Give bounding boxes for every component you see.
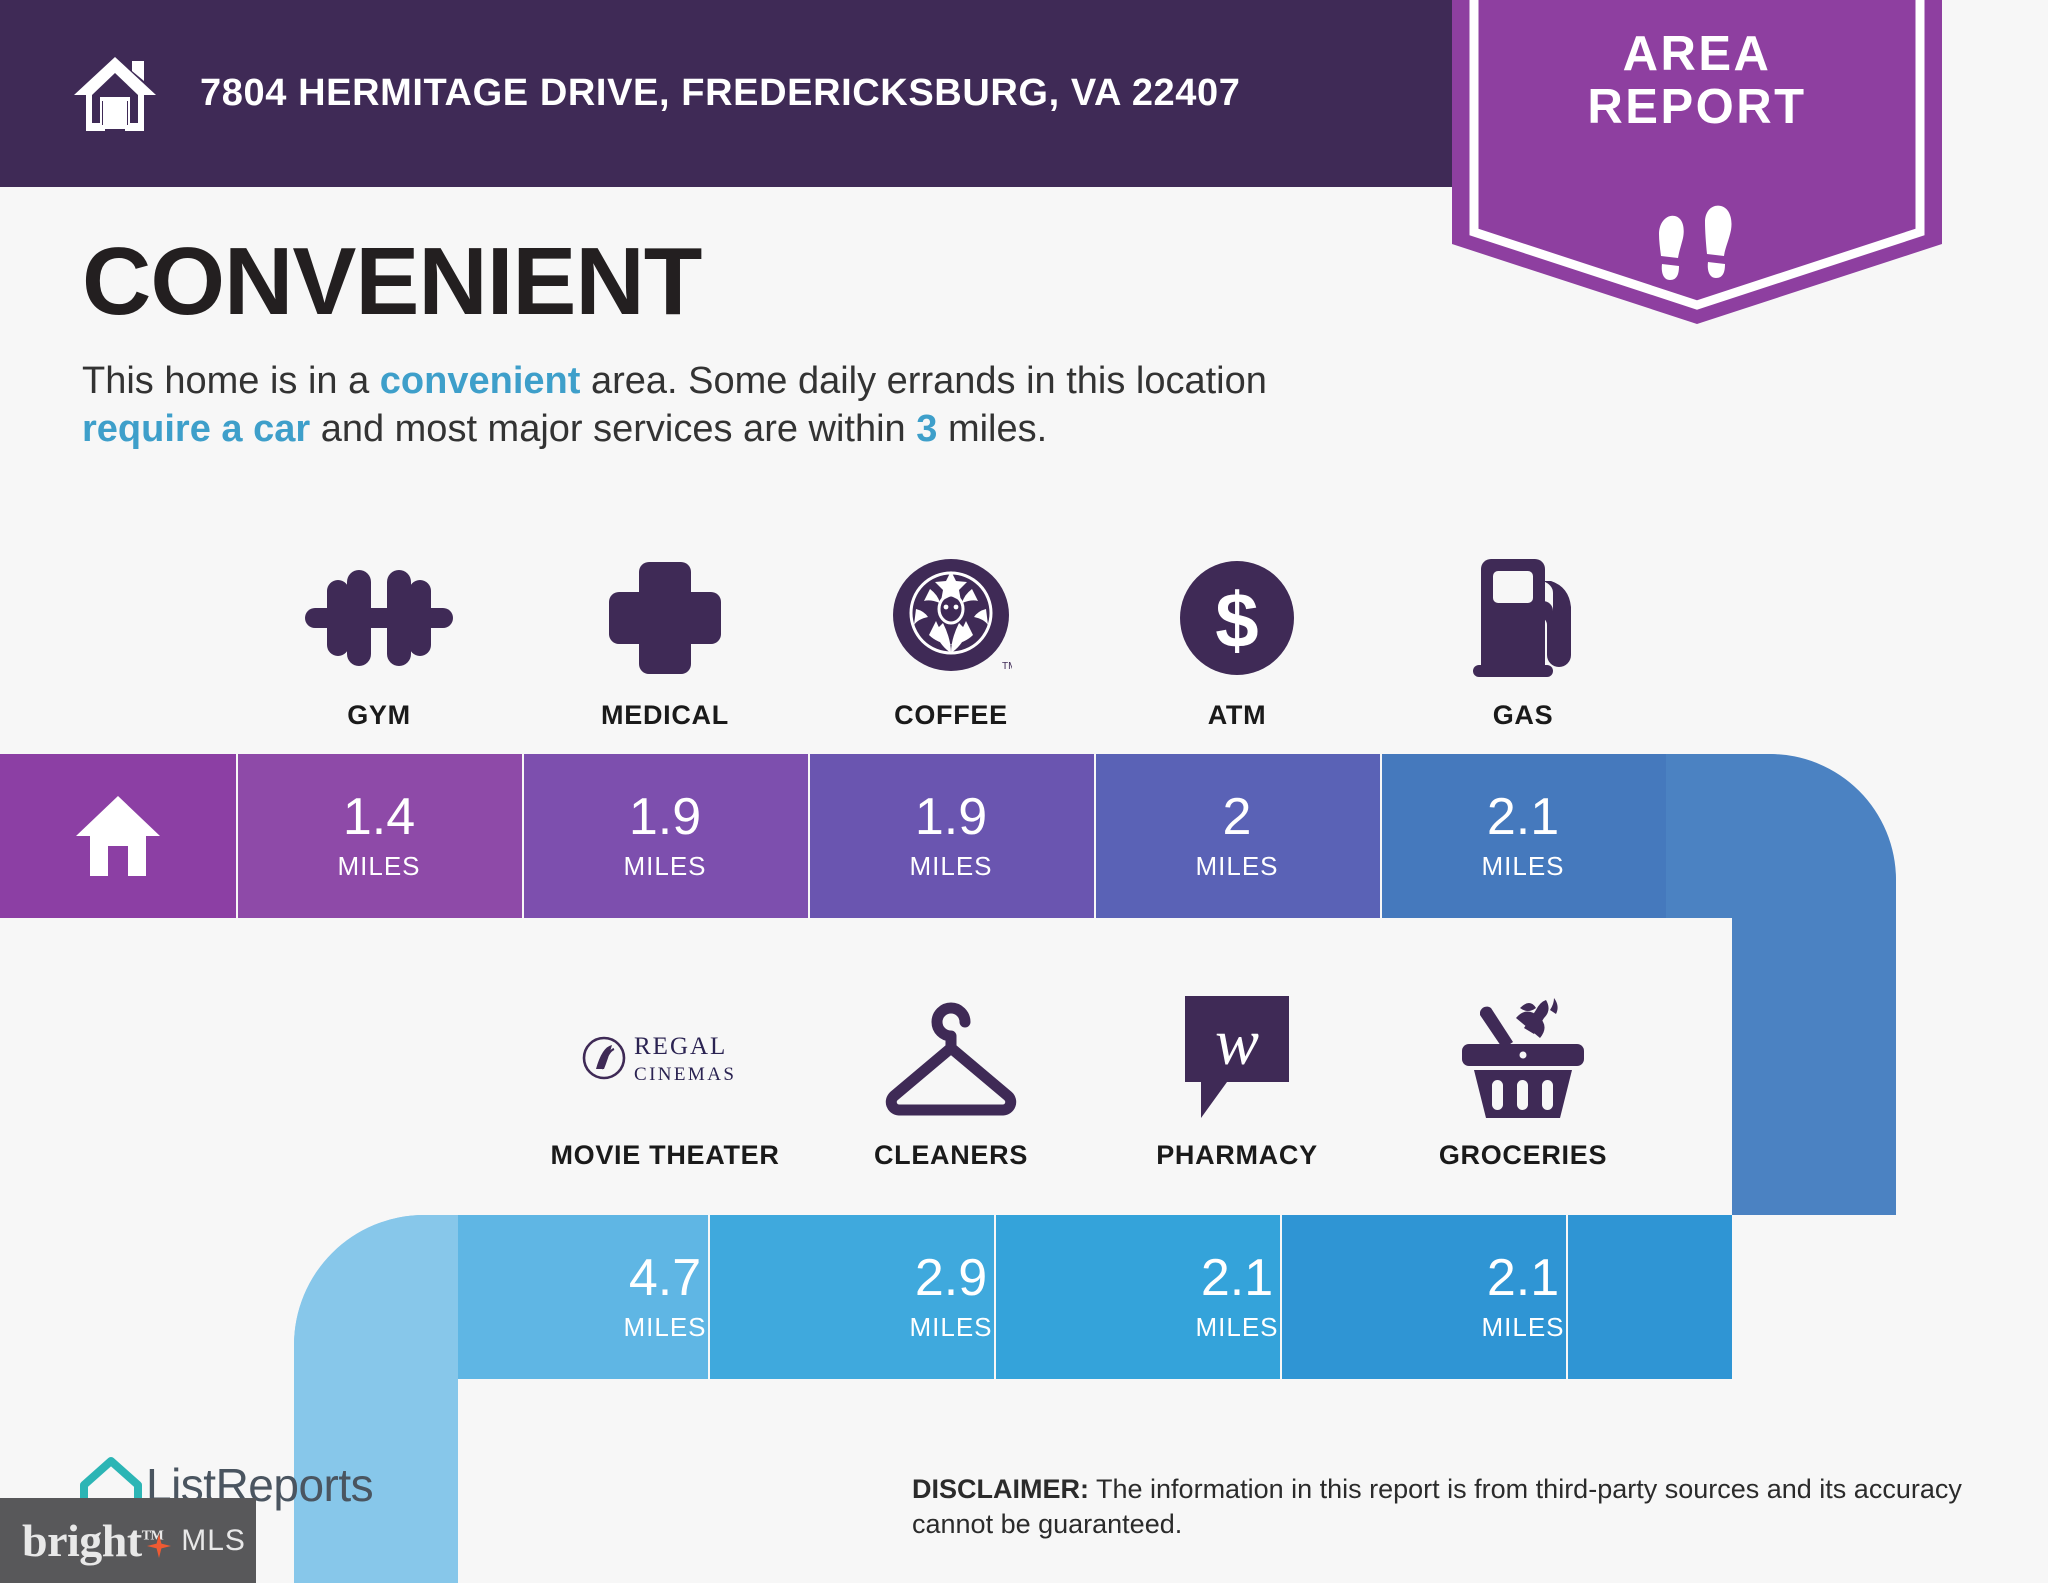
icon-label: MEDICAL xyxy=(601,700,729,731)
clothes-hanger-icon xyxy=(878,992,1024,1124)
regal-cinemas-icon: REGAL CINEMAS xyxy=(582,992,748,1124)
bright-text: bright xyxy=(22,1515,142,1566)
distance-cell-movie-theater: 4.7 MILES xyxy=(522,1215,808,1379)
bright-mls-badge: brightTM MLS xyxy=(0,1498,256,1583)
badge-line-1: AREA xyxy=(1452,28,1942,81)
svg-text:w: w xyxy=(1215,1006,1259,1079)
distance-unit: MILES xyxy=(623,851,706,882)
mls-wordmark: MLS xyxy=(181,1524,246,1558)
icon-cell-movie-theater: REGAL CINEMAS MOVIE THEATER xyxy=(522,992,808,1171)
icon-label: CLEANERS xyxy=(874,1140,1028,1171)
distance-value: 4.7 xyxy=(629,1252,701,1304)
icon-label: MOVIE THEATER xyxy=(550,1140,779,1171)
icon-cell-gas: GAS xyxy=(1380,552,1666,731)
summary-highlight-require-a-car: require a car xyxy=(82,408,310,450)
svg-text:TM: TM xyxy=(1002,661,1012,672)
distance-cell-groceries: 2.1 MILES xyxy=(1380,1215,1666,1379)
home-position-marker xyxy=(0,754,236,918)
area-report-badge: AREA REPORT xyxy=(1452,0,1942,324)
starbucks-icon: TM xyxy=(890,552,1012,684)
icon-cell-cleaners: CLEANERS xyxy=(808,992,1094,1171)
distance-unit: MILES xyxy=(909,1312,992,1343)
summary-part-1: This home is in a xyxy=(82,360,380,402)
distance-cell-medical: 1.9 MILES xyxy=(522,754,808,918)
summary-highlight-convenient: convenient xyxy=(380,360,581,402)
distance-cell-pharmacy: 2.1 MILES xyxy=(1094,1215,1380,1379)
icon-label: COFFEE xyxy=(894,700,1008,731)
title-block: CONVENIENT This home is in a convenient … xyxy=(82,232,1412,454)
icon-label: GAS xyxy=(1493,700,1554,731)
distance-unit: MILES xyxy=(1481,851,1564,882)
distance-unit: MILES xyxy=(1481,1312,1564,1343)
icon-label: GROCERIES xyxy=(1439,1140,1607,1171)
svg-text:$: $ xyxy=(1215,576,1258,664)
distance-cell-coffee: 1.9 MILES xyxy=(808,754,1094,918)
dumbbell-icon xyxy=(305,552,453,684)
icon-label: GYM xyxy=(347,700,411,731)
star-icon xyxy=(147,1516,171,1540)
gas-pump-icon xyxy=(1467,552,1579,684)
distance-value: 2.1 xyxy=(1487,791,1559,843)
icon-cell-atm: $ ATM xyxy=(1094,552,1380,731)
distance-value: 2.1 xyxy=(1201,1252,1273,1304)
distance-value: 1.4 xyxy=(343,791,415,843)
summary-part-4: miles. xyxy=(937,408,1047,450)
icon-label: ATM xyxy=(1208,700,1267,731)
page-title: CONVENIENT xyxy=(82,232,1412,333)
distance-value: 1.9 xyxy=(915,791,987,843)
icon-cell-pharmacy: w PHARMACY xyxy=(1094,992,1380,1171)
distance-value: 2.1 xyxy=(1487,1252,1559,1304)
distance-value: 2.9 xyxy=(915,1252,987,1304)
distance-cell-cleaners: 2.9 MILES xyxy=(808,1215,1094,1379)
distance-cell-atm: 2 MILES xyxy=(1094,754,1380,918)
icon-cell-groceries: GROCERIES xyxy=(1380,992,1666,1171)
row1-distances: 1.4 MILES 1.9 MILES 1.9 MILES 2 MILES 2.… xyxy=(236,754,1666,918)
icon-label: PHARMACY xyxy=(1156,1140,1318,1171)
svg-text:CINEMAS: CINEMAS xyxy=(634,1064,736,1085)
distance-unit: MILES xyxy=(1195,851,1278,882)
icon-cell-medical: MEDICAL xyxy=(522,552,808,731)
badge-text: AREA REPORT xyxy=(1452,28,1942,134)
distance-value: 1.9 xyxy=(629,791,701,843)
svg-text:REGAL: REGAL xyxy=(634,1033,727,1060)
distance-cell-gym: 1.4 MILES xyxy=(236,754,522,918)
badge-line-2: REPORT xyxy=(1452,81,1942,134)
summary-paragraph: This home is in a convenient area. Some … xyxy=(82,357,1372,454)
icon-cell-coffee: TM COFFEE xyxy=(808,552,1094,731)
distance-unit: MILES xyxy=(909,851,992,882)
bright-wordmark: brightTM xyxy=(22,1514,163,1567)
row2-icons: REGAL CINEMAS MOVIE THEATER CLEANERS w P… xyxy=(522,992,1666,1171)
distance-cell-gas: 2.1 MILES xyxy=(1380,754,1666,918)
distance-unit: MILES xyxy=(337,851,420,882)
distance-unit: MILES xyxy=(623,1312,706,1343)
medical-cross-icon xyxy=(607,552,723,684)
dollar-circle-icon: $ xyxy=(1178,552,1296,684)
footprints-icon xyxy=(1651,204,1743,290)
row2-distances: 4.7 MILES 2.9 MILES 2.1 MILES 2.1 MILES xyxy=(522,1215,1666,1379)
distance-unit: MILES xyxy=(1195,1312,1278,1343)
grocery-basket-icon xyxy=(1458,992,1588,1124)
distance-value: 2 xyxy=(1223,791,1252,843)
disclaimer-label: DISCLAIMER: xyxy=(912,1474,1089,1504)
summary-highlight-miles: 3 xyxy=(916,408,937,450)
header-bar: 7804 HERMITAGE DRIVE, FREDERICKSBURG, VA… xyxy=(0,0,1452,187)
walgreens-w-icon: w xyxy=(1181,992,1293,1124)
icon-cell-gym: GYM xyxy=(236,552,522,731)
summary-part-3: and most major services are within xyxy=(310,408,916,450)
disclaimer: DISCLAIMER: The information in this repo… xyxy=(912,1472,1982,1542)
row1-icons: GYM MEDICAL xyxy=(236,552,1666,731)
home-icon xyxy=(72,51,158,137)
property-address: 7804 HERMITAGE DRIVE, FREDERICKSBURG, VA… xyxy=(200,72,1240,115)
summary-part-2: area. Some daily errands in this locatio… xyxy=(580,360,1266,402)
